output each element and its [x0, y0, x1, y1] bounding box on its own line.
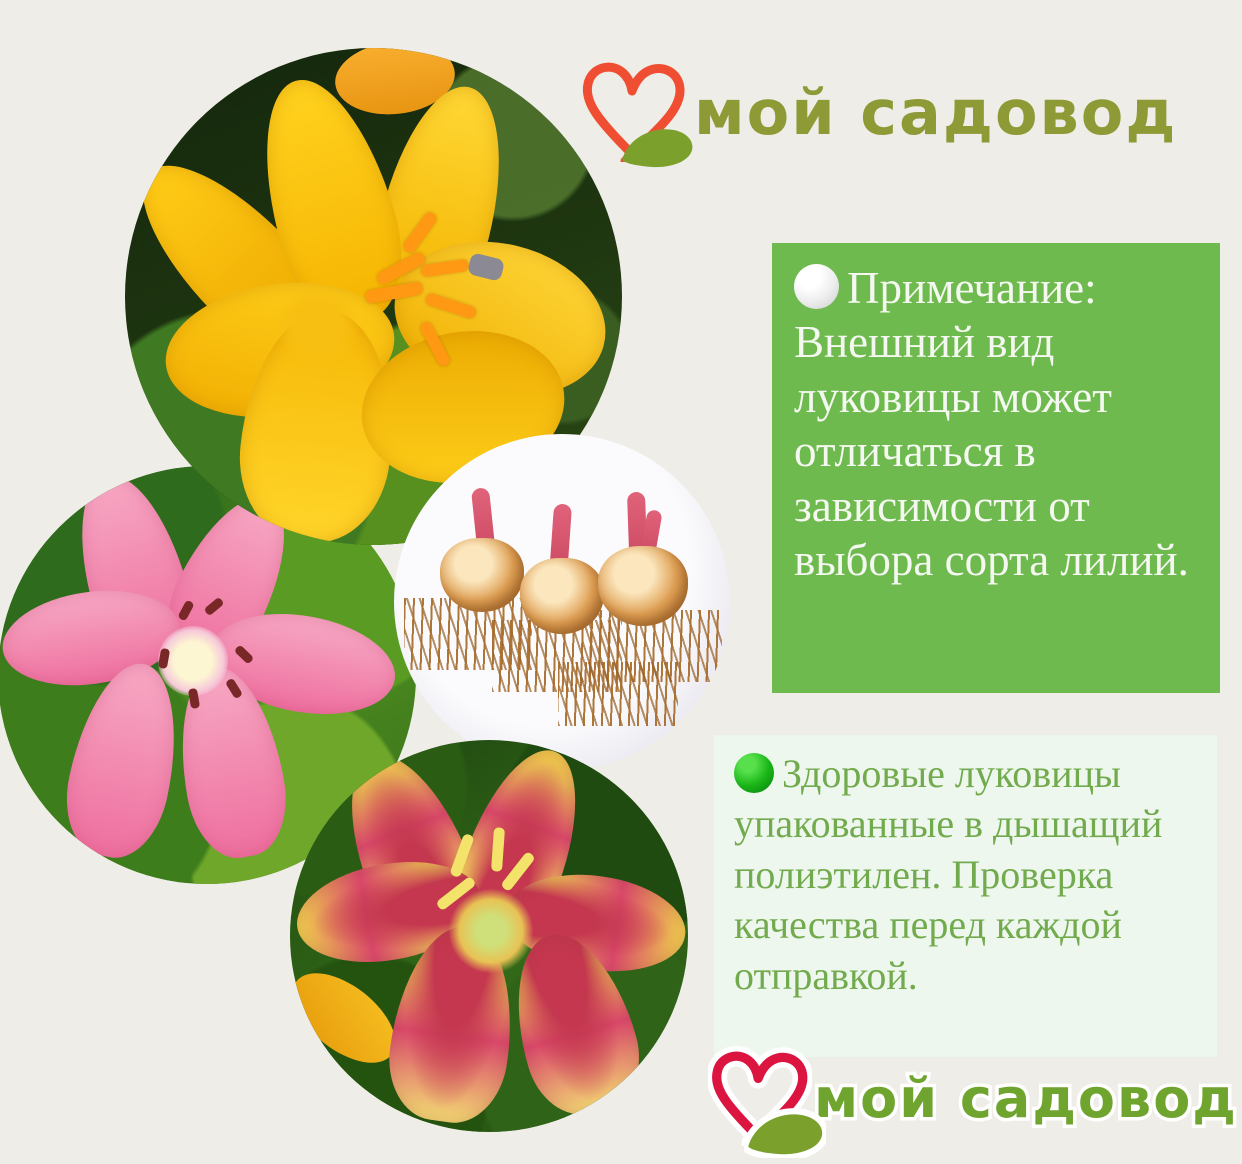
brand-wordmark: мой садовод	[694, 82, 1177, 144]
health-full-text: Здоровые луковицы упакованные в дышащий …	[734, 751, 1162, 998]
leaf-icon	[744, 1104, 826, 1158]
bulbs-scene	[394, 434, 730, 770]
heart-leaf-mark	[708, 1046, 812, 1151]
photo-bicolor-lily	[290, 740, 688, 1132]
flower-center	[448, 888, 534, 974]
brand-logo-bottom: мой садовод	[708, 1046, 1238, 1151]
bulb-sprout	[550, 503, 572, 564]
note-text: Примечание: Внешний вид луковицы может о…	[794, 261, 1200, 588]
brand-wordmark: мой садовод	[814, 1072, 1238, 1126]
brand-logo-top: мой садовод	[578, 58, 1177, 167]
lily-bulb	[440, 538, 524, 612]
white-sphere-bullet-icon	[794, 264, 839, 309]
bulb-roots	[558, 662, 678, 726]
health-text: Здоровые луковицы упакованные в дышащий …	[734, 749, 1201, 1001]
green-sphere-bullet-icon	[734, 753, 774, 793]
heart-leaf-mark	[578, 58, 690, 167]
note-full-text: Примечание: Внешний вид луковицы может о…	[794, 263, 1189, 585]
lily-bulb	[520, 558, 604, 634]
lily-bulb	[598, 546, 688, 626]
photo-lily-bulbs	[394, 434, 730, 770]
poster-canvas: мой садовод Примечание: Внешний вид луко…	[0, 0, 1242, 1164]
leaf-icon	[618, 120, 696, 170]
bicolor-lily-scene	[290, 740, 688, 1132]
flower-center	[158, 626, 228, 696]
health-callout-box: Здоровые луковицы упакованные в дышащий …	[714, 735, 1217, 1057]
note-callout-box: Примечание: Внешний вид луковицы может о…	[772, 243, 1220, 693]
flower-center	[275, 284, 361, 370]
